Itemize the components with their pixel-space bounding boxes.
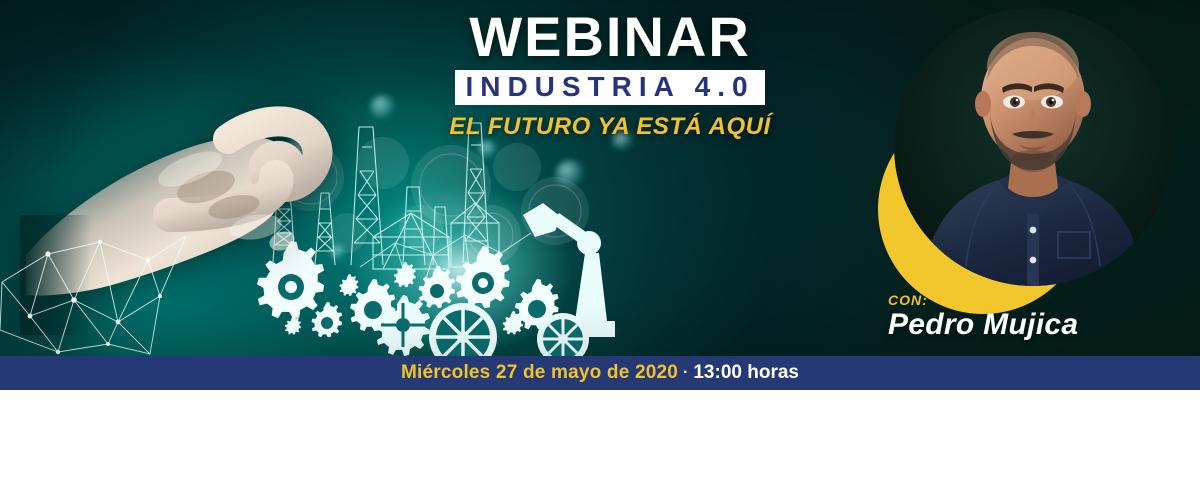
webinar-banner: WEBINAR INDUSTRIA 4.0 EL FUTURO YA ESTÁ … [0,0,1200,484]
speaker-name: Pedro Mujica [888,308,1078,342]
date-bar: Miércoles 27 de mayo de 2020 · 13:00 hor… [0,356,1200,390]
tagline: EL FUTURO YA ESTÁ AQUÍ [430,114,790,140]
event-date: Miércoles 27 de mayo de 2020 [401,362,678,384]
speaker-block: CON: Pedro Mujica [860,0,1200,356]
title-block: WEBINAR INDUSTRIA 4.0 EL FUTURO YA ESTÁ … [430,8,790,140]
page-subtitle: INDUSTRIA 4.0 [465,71,754,102]
speaker-photo [894,8,1172,286]
event-time: 13:00 horas [693,362,799,384]
subtitle-band: INDUSTRIA 4.0 [455,70,764,105]
page-title: WEBINAR [430,8,790,66]
sponsor-logo-bar: 4p Ort [0,390,1200,484]
date-separator: · [683,364,688,382]
speaker-con-label: CON: [888,292,928,308]
